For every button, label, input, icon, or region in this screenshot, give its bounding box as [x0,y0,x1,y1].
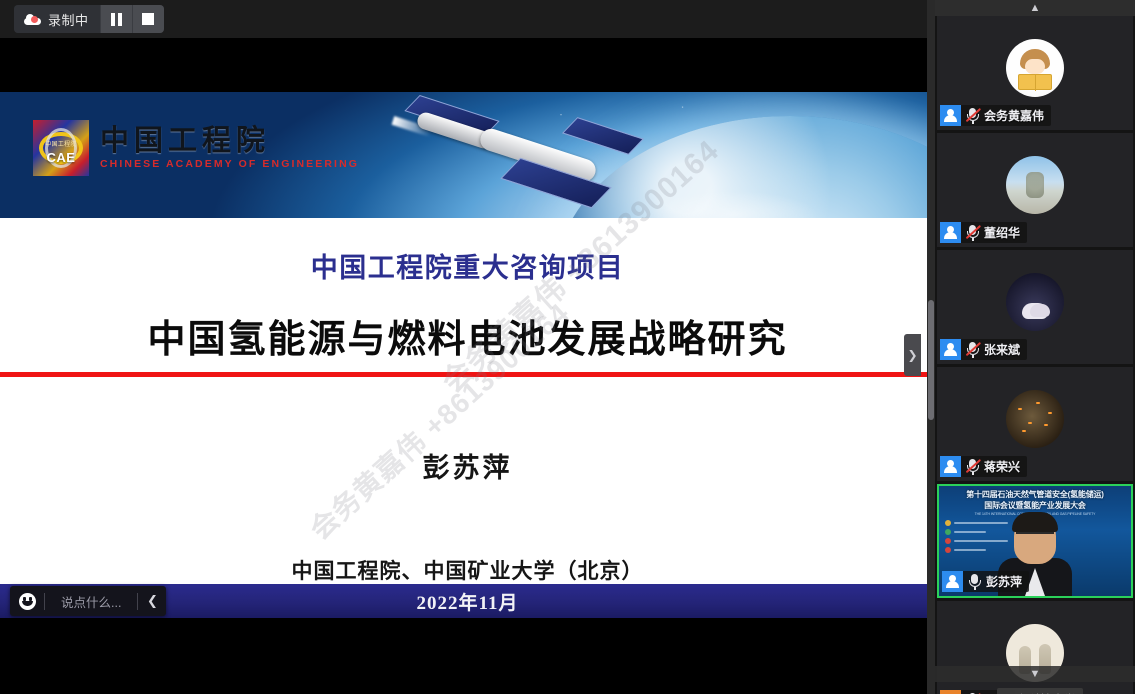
recording-status: 录制中 [14,5,100,33]
participant-name: 董绍华 [984,224,1020,241]
cae-emblem-icon: 中国工程院 CAE [33,120,89,176]
user-badge-icon [942,571,963,592]
satellite-image [392,100,712,220]
slide-presenter-name: 彭苏萍 [0,446,935,485]
mic-muted-icon[interactable] [965,107,980,124]
mic-muted-icon[interactable] [965,458,980,475]
participant-name-strip: 蒋荣兴 [940,456,1027,477]
avatar [1006,156,1064,214]
participant-tile[interactable]: 蒋荣兴 [937,367,1133,481]
scrollbar-thumb[interactable] [928,300,934,420]
slide-title: 中国氢能源与燃料电池发展战略研究 [0,308,935,363]
participant-tooltip: 北京科技大学 [997,688,1083,694]
chat-collapse-button[interactable]: ❮ [138,593,166,609]
cae-name-cn: 中国工程院 [100,126,359,156]
participant-name: 张来斌 [984,341,1020,358]
scroll-up-button[interactable]: ▲ [935,0,1135,16]
participant-name-strip: 董绍华 [940,222,1027,243]
avatar [1006,273,1064,331]
user-badge-icon [940,222,961,243]
shared-screen-stage: 录制中 [0,0,935,694]
participant-tile[interactable]: 董绍华 [937,133,1133,247]
pause-recording-button[interactable] [100,5,132,33]
banner-line-1: 第十四届石油天然气管道安全(氢能储运) [941,489,1129,500]
cae-emblem-abbr: CAE [33,150,89,165]
banner-line-2: 国际会议暨氢能产业发展大会 [941,500,1129,511]
cloud-record-icon [24,14,41,25]
avatar [1006,390,1064,448]
user-badge-icon [940,690,961,694]
mic-muted-icon[interactable] [965,224,980,241]
mic-active-icon[interactable] [967,573,982,590]
slide-affiliation: 中国工程院、中国矿业大学（北京） [0,555,935,585]
participants-rail: ▲ 会务黄嘉伟 董绍华 [935,0,1135,694]
participant-tile[interactable]: 张来斌 [937,250,1133,364]
meeting-app-window: 录制中 [0,0,1135,694]
slide-subtitle: 中国工程院重大咨询项目 [0,246,935,285]
participant-tile[interactable]: 会务黄嘉伟 [937,16,1133,130]
stop-icon [142,13,154,25]
chat-input-bar[interactable]: 说点什么... ❮ [10,586,166,616]
user-badge-icon [940,456,961,477]
scroll-down-button[interactable]: ▼ [935,666,1135,682]
recording-label: 录制中 [48,10,89,29]
participant-name-strip: 彭苏萍 [942,571,1029,592]
avatar [1006,39,1064,97]
cae-name-en: CHINESE ACADEMY OF ENGINEERING [100,158,359,170]
participant-name-strip: 会务黄嘉伟 [940,105,1051,126]
participant-name: 会务黄嘉伟 [984,107,1044,124]
pause-icon [111,13,122,26]
emoji-picker-button[interactable] [10,593,44,610]
stop-recording-button[interactable] [132,5,164,33]
participant-name: 蒋荣兴 [984,458,1020,475]
user-badge-icon [940,105,961,126]
presentation-slide[interactable]: 中国工程院 CAE 中国工程院 CHINESE ACADEMY OF ENGIN… [0,92,935,618]
recording-indicator: 录制中 [14,5,164,33]
participant-name-strip: 张来斌 [940,339,1027,360]
cae-logo: 中国工程院 CAE 中国工程院 CHINESE ACADEMY OF ENGIN… [33,120,359,176]
mic-muted-icon[interactable] [965,341,980,358]
slide-divider [0,372,935,377]
slide-date: 2022年11月 [417,588,519,615]
collapse-panel-handle[interactable]: ❯ [904,334,921,376]
cae-emblem-cn: 中国工程院 [33,139,89,148]
slide-header-banner: 中国工程院 CAE 中国工程院 CHINESE ACADEMY OF ENGIN… [0,92,935,218]
slide-body: 中国工程院重大咨询项目 中国氢能源与燃料电池发展战略研究 彭苏萍 中国工程院、中… [0,218,935,618]
chat-input[interactable]: 说点什么... [45,592,137,611]
stage-scrollbar[interactable] [927,0,935,694]
recording-toolbar: 录制中 [0,0,935,38]
participant-name: 彭苏萍 [986,573,1022,590]
smiley-icon [19,593,36,610]
active-speaker-tile[interactable]: 第十四届石油天然气管道安全(氢能储运) 国际会议暨氢能产业发展大会 THE 14… [937,484,1133,598]
user-badge-icon [940,339,961,360]
